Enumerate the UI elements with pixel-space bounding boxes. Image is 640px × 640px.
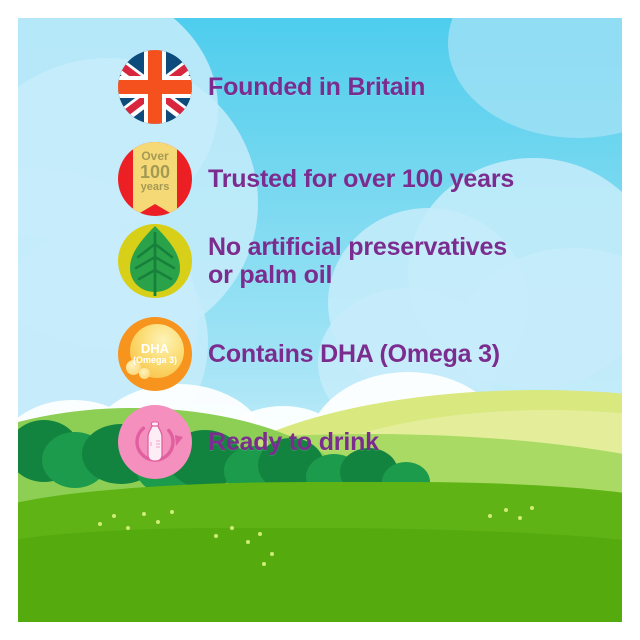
hundred-years-badge-icon: Over 100 years [118, 142, 192, 216]
dha-badge-text: DHA (Omega 3) [118, 342, 192, 365]
feature-label: Trusted for over 100 years [208, 165, 514, 193]
promo-card: Founded in Britain Over 100 years Truste… [18, 18, 622, 622]
landscape-scene [18, 362, 622, 622]
bubble-shape [139, 368, 150, 379]
feature-item-no-artificial-preservatives[interactable]: No artificial preservatives or palm oil [118, 224, 507, 298]
screenshot-root: Founded in Britain Over 100 years Truste… [0, 0, 640, 640]
badge-text-line2: 100 [131, 163, 179, 181]
union-jack-flag-icon [118, 50, 192, 124]
badge-text-line3: years [131, 182, 179, 193]
feature-label: Contains DHA (Omega 3) [208, 340, 500, 368]
feature-item-ready-to-drink[interactable]: Ready to drink [118, 405, 379, 479]
badge-text-line1: Over [131, 150, 179, 162]
sky-cloud-blob [448, 18, 622, 138]
feature-item-contains-dha[interactable]: DHA (Omega 3) Contains DHA (Omega 3) [118, 317, 500, 391]
leaf-icon [118, 224, 192, 298]
dha-text-line1: DHA [118, 342, 192, 356]
feature-item-founded-in-britain[interactable]: Founded in Britain [118, 50, 425, 124]
feature-item-trusted-100-years[interactable]: Over 100 years Trusted for over 100 year… [118, 142, 514, 216]
feature-label: Ready to drink [208, 428, 379, 456]
foreground-grass [18, 528, 622, 622]
ready-to-drink-bottle-icon [118, 405, 192, 479]
feature-label: No artificial preservatives or palm oil [208, 233, 507, 289]
dha-text-line2: (Omega 3) [118, 356, 192, 365]
badge-text: Over 100 years [131, 150, 179, 193]
dha-omega-droplet-icon: DHA (Omega 3) [118, 317, 192, 391]
feature-label: Founded in Britain [208, 73, 425, 101]
